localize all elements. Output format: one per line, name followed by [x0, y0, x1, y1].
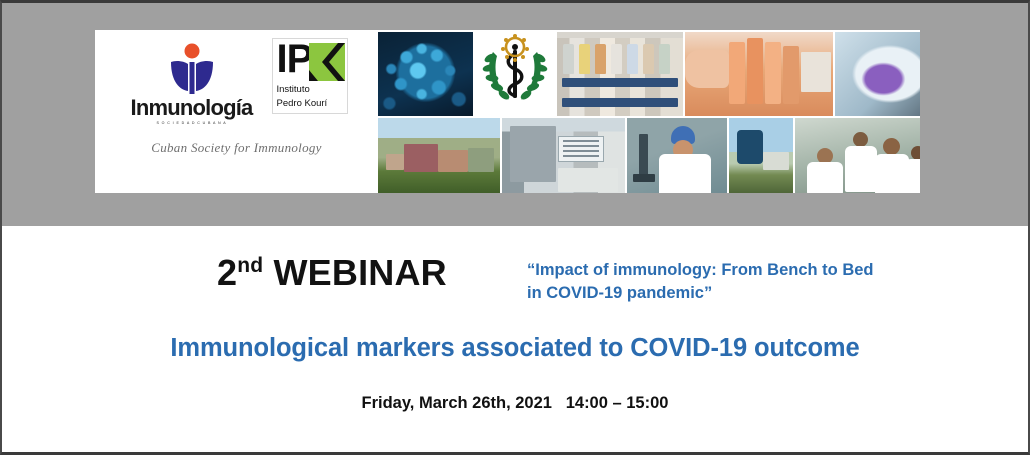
webinar-title: 2nd WEBINAR [217, 252, 447, 294]
snake-staff-laurel-icon [475, 32, 555, 116]
announcement-content: 2nd WEBINAR “Impact of immunology: From … [2, 226, 1028, 452]
ipk-letters: IP [277, 39, 313, 79]
ipk-name-line1: Instituto [277, 84, 343, 96]
coronavirus-micrograph-image [378, 32, 473, 116]
quote-line-2: in COVID-19 pandemic” [527, 284, 712, 302]
institute-logo: IP Instituto Pedro Kourí [272, 38, 348, 114]
photo-collage [378, 30, 920, 193]
presentation-headline: Immunological markers associated to COVI… [2, 334, 1028, 363]
ipk-k-chevron-icon [309, 43, 345, 81]
shelf-label-bar [562, 78, 678, 87]
webinar-announcement-slide: Inmunología S O C I E D A D C U B A N A … [0, 0, 1030, 455]
immunology-y-mark-icon [126, 42, 258, 96]
webinar-datetime: Friday, March 26th, 2021 14:00 – 15:00 [2, 394, 1028, 413]
society-logo: Inmunología S O C I E D A D C U B A N A [126, 38, 258, 125]
facade-sign [558, 136, 604, 162]
header-gray-band: Inmunología S O C I E D A D C U B A N A … [2, 3, 1028, 226]
webinar-number: 2 [217, 252, 237, 293]
organization-banner: Inmunología S O C I E D A D C U B A N A … [95, 30, 920, 193]
webinar-theme-quote: “Impact of immunology: From Bench to Bed… [527, 259, 927, 305]
institute-campus-image [378, 118, 500, 193]
society-wordmark: Inmunología [126, 97, 258, 119]
scientist-microscope-image [627, 118, 727, 193]
laboratory-shelves-image [557, 32, 683, 116]
hospital-ward-image [795, 118, 920, 193]
ipk-name-line2: Pedro Kourí [277, 98, 343, 110]
quote-line-1: “Impact of immunology: From Bench to Bed [527, 261, 874, 279]
shelf-label-bar [562, 98, 678, 107]
agar-plate-image [835, 32, 920, 116]
water-tower-image [729, 118, 793, 193]
logos-group: Inmunología S O C I E D A D C U B A N A … [95, 30, 378, 193]
petri-dishes-image [685, 32, 833, 116]
society-caption: Cuban Society for Immunology [95, 140, 378, 156]
hospital-facade-image [502, 118, 625, 193]
webinar-ordinal: nd [237, 254, 263, 277]
medical-emblem-image [475, 32, 555, 116]
society-sub-wordmark: S O C I E D A D C U B A N A [126, 121, 258, 125]
webinar-label: WEBINAR [274, 252, 447, 293]
